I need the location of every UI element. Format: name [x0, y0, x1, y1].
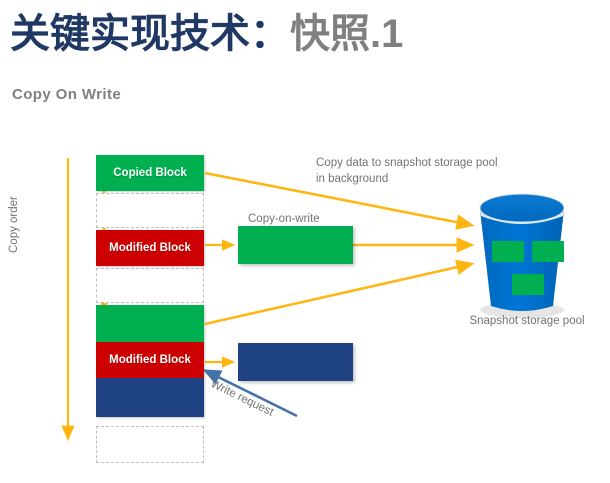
copy-background-caption: Copy data to snapshot storage pool in ba… [316, 156, 506, 187]
block-modified-2: Modified Block [96, 342, 204, 378]
page-subtitle: Copy On Write [12, 86, 121, 103]
block-label: Copied Block [113, 167, 186, 179]
snapshot-storage-pool-label: Snapshot storage pool [452, 315, 602, 327]
block-copied-1: Copied Block [96, 155, 204, 191]
copy-on-write-green-block [238, 226, 353, 264]
block-label: Modified Block [109, 242, 191, 254]
page-title-sub: 快照.1 [290, 12, 403, 56]
snapshot-storage-pool [480, 194, 564, 318]
copy-on-write-label: Copy-on-write [248, 213, 320, 225]
copy-order-label: Copy order [8, 196, 20, 253]
block-empty-1 [96, 193, 204, 228]
page-title-main: 关键实现技术： [10, 12, 290, 56]
green-block-to-pool-arrow [205, 264, 471, 324]
write-request-blue-block [238, 343, 353, 381]
block-label: Modified Block [109, 354, 191, 366]
block-empty-3 [96, 426, 204, 463]
source-volume-block-column: Copied Block Modified Block Modified Blo… [96, 155, 204, 483]
block-new-data [96, 378, 204, 417]
block-empty-2 [96, 268, 204, 303]
block-copied-2 [96, 305, 204, 342]
copy-on-write-diagram: Copied Block Modified Block Modified Blo… [0, 128, 610, 466]
diagram-vector-layer [0, 128, 610, 466]
block-modified-1: Modified Block [96, 230, 204, 266]
page-title: 关键实现技术：快照.1 [10, 12, 403, 56]
